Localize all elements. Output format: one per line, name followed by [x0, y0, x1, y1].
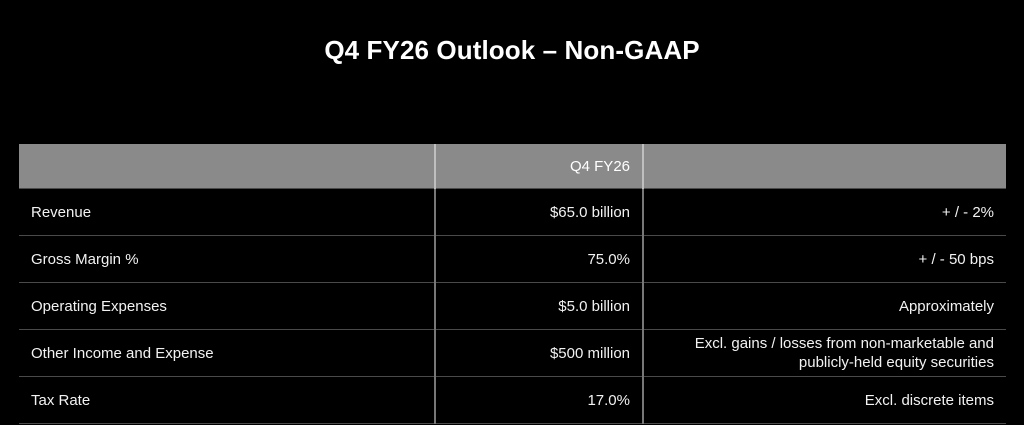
column-header-metric [19, 144, 435, 189]
row-value-operating-expenses: $5.0 billion [435, 283, 643, 330]
table-row: Revenue $65.0 billion + / - 2% [19, 189, 1006, 236]
row-note-operating-expenses: Approximately [643, 283, 1006, 330]
row-note-line-2: publicly-held equity securities [799, 354, 994, 371]
table-row: Tax Rate 17.0% Excl. discrete items [19, 377, 1006, 424]
table-row: Other Income and Expense $500 million Ex… [19, 330, 1006, 377]
row-metric-tax-rate: Tax Rate [19, 377, 435, 424]
row-value-gross-margin: 75.0% [435, 236, 643, 283]
row-metric-operating-expenses: Operating Expenses [19, 283, 435, 330]
column-header-note [643, 144, 1006, 189]
table-header: Q4 FY26 [19, 144, 1006, 189]
row-note-other-income-and-expense: Excl. gains / losses from non-marketable… [643, 330, 1006, 377]
row-note-tax-rate: Excl. discrete items [643, 377, 1006, 424]
row-metric-revenue: Revenue [19, 189, 435, 236]
row-value-other-income-and-expense: $500 million [435, 330, 643, 377]
table-body: Revenue $65.0 billion + / - 2% Gross Mar… [19, 189, 1006, 424]
slide-canvas: Q4 FY26 Outlook – Non-GAAP Q4 FY26 Reven… [0, 0, 1024, 425]
page-title: Q4 FY26 Outlook – Non-GAAP [0, 33, 1024, 67]
table-row: Operating Expenses $5.0 billion Approxim… [19, 283, 1006, 330]
row-value-revenue: $65.0 billion [435, 189, 643, 236]
table-header-row: Q4 FY26 [19, 144, 1006, 189]
row-note-gross-margin: + / - 50 bps [643, 236, 1006, 283]
column-header-period: Q4 FY26 [435, 144, 643, 189]
row-metric-gross-margin: Gross Margin % [19, 236, 435, 283]
table-row: Gross Margin % 75.0% + / - 50 bps [19, 236, 1006, 283]
row-note-revenue: + / - 2% [643, 189, 1006, 236]
row-metric-other-income-and-expense: Other Income and Expense [19, 330, 435, 377]
row-note-line-1: Excl. gains / losses from non-marketable… [695, 335, 994, 352]
outlook-table: Q4 FY26 Revenue $65.0 billion + / - 2% G… [19, 144, 1006, 424]
row-value-tax-rate: 17.0% [435, 377, 643, 424]
